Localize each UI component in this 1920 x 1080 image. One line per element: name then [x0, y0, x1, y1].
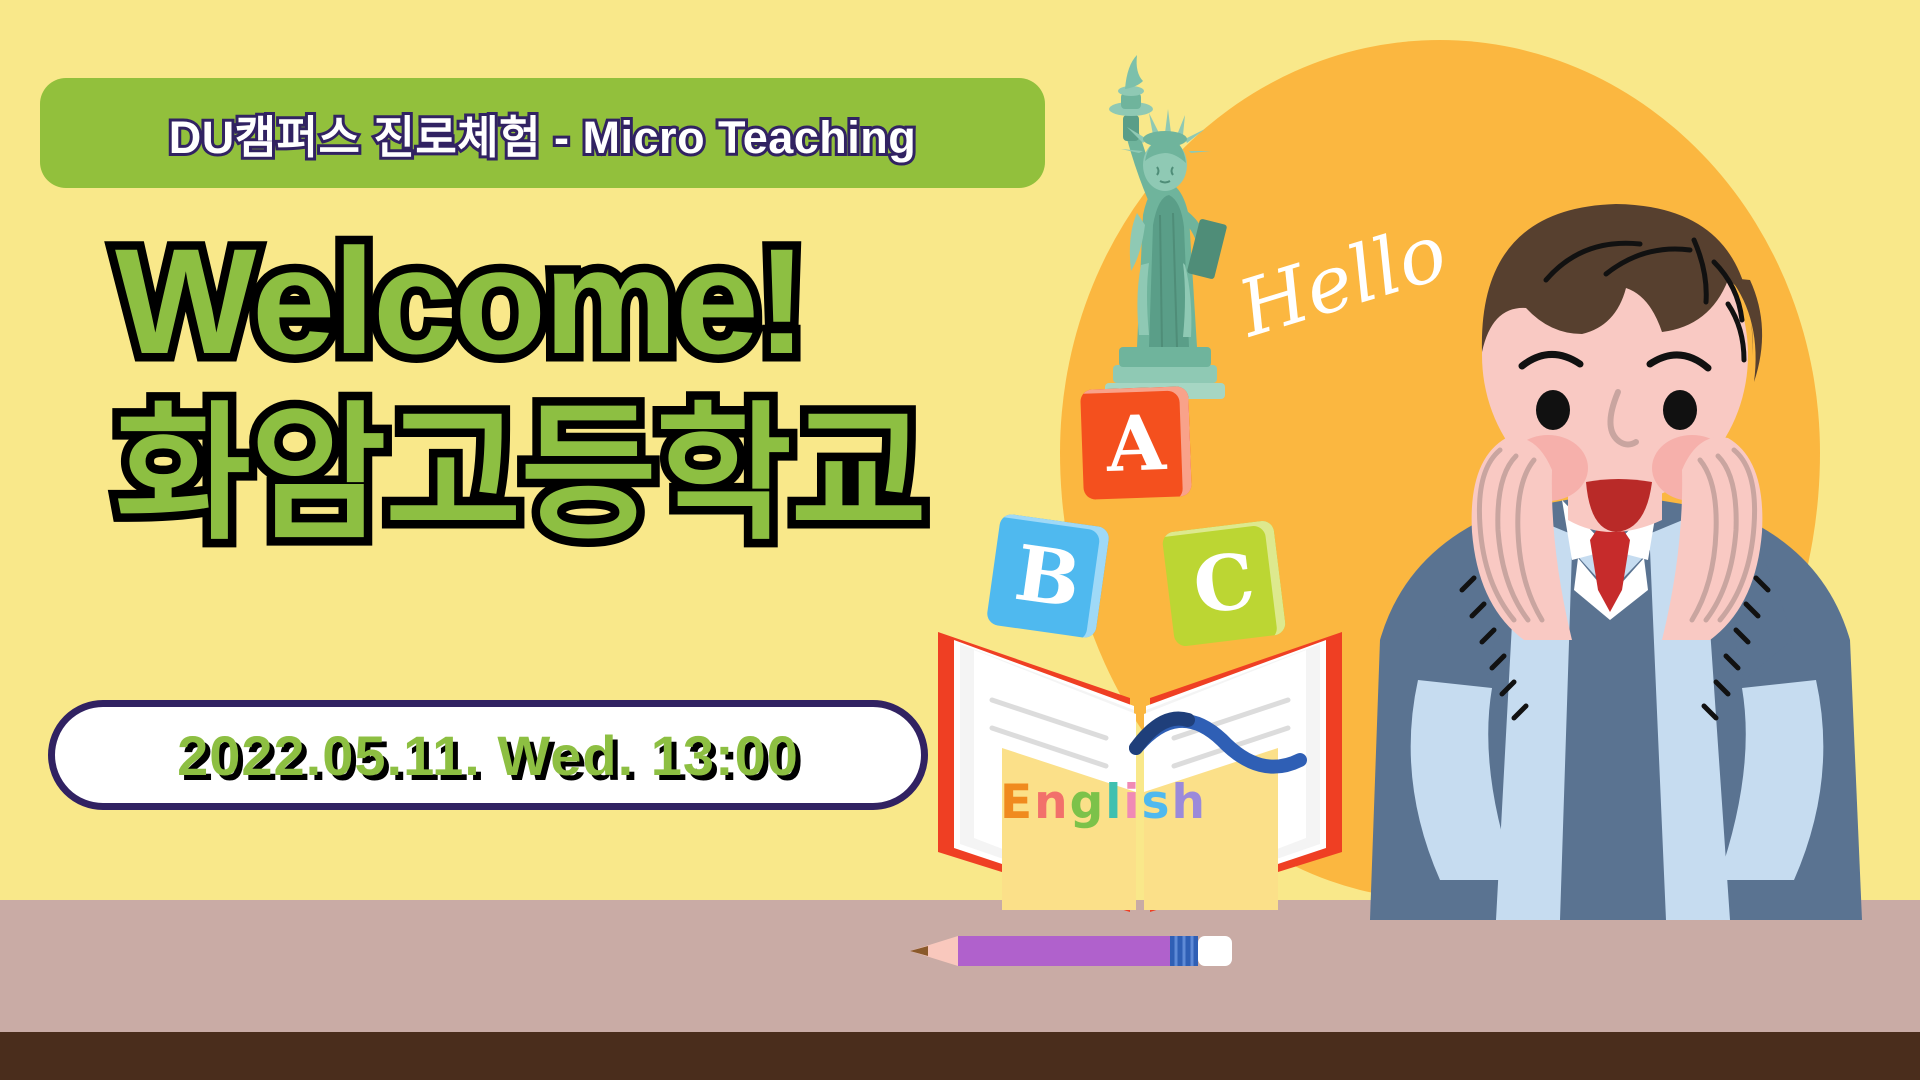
- headline-welcome: Welcome!: [115, 225, 1055, 378]
- event-banner: DU캠퍼스 진로체험 - Micro Teaching: [40, 78, 1045, 188]
- statue-of-liberty-illustration: [1065, 35, 1265, 415]
- headline-group: Welcome! 화암고등학교: [115, 225, 1055, 551]
- event-banner-title: DU캠퍼스 진로체험 - Micro Teaching: [169, 101, 917, 166]
- letter-block-a-label: A: [1105, 397, 1167, 488]
- letter-block-a: A: [1080, 386, 1192, 500]
- open-book-illustration: [930, 620, 1350, 920]
- pencil-illustration: [910, 930, 1260, 970]
- date-time-pill: 2022.05.11. Wed. 13:00: [48, 700, 928, 810]
- english-letter-g-2: g: [1070, 775, 1106, 830]
- english-letter-e-0: E: [1000, 775, 1034, 830]
- english-letter-n-1: n: [1034, 775, 1069, 830]
- headline-school-name: 화암고등학교: [115, 400, 1055, 551]
- english-letter-s-5: s: [1141, 775, 1171, 830]
- date-time-label: 2022.05.11. Wed. 13:00: [177, 723, 799, 788]
- english-letter-l-3: l: [1105, 775, 1123, 830]
- english-letter-h-6: h: [1171, 775, 1206, 830]
- letter-block-c-label: C: [1189, 536, 1260, 632]
- english-book-label: English: [1000, 775, 1207, 830]
- desk-edge-strip: [0, 1032, 1920, 1080]
- english-letter-i-4: i: [1123, 775, 1141, 830]
- poster-canvas: A B C: [0, 0, 1920, 1080]
